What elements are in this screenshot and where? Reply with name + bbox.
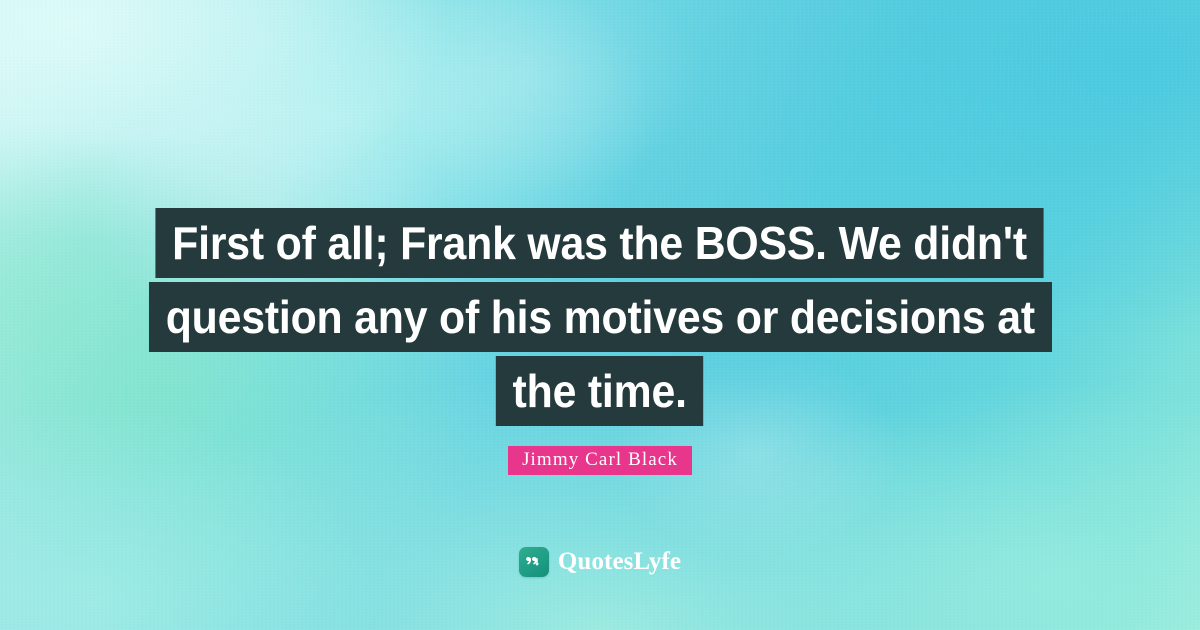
- quote-line-1: First of all; Frank was the BOSS. We did…: [156, 208, 1044, 278]
- quote-line-2: question any of his motives or decisions…: [149, 282, 1052, 352]
- author-name-badge[interactable]: Jimmy Carl Black: [508, 446, 692, 475]
- author-attribution: Jimmy Carl Black: [0, 446, 1200, 475]
- quote-text-block: First of all; Frank was the BOSS. We did…: [0, 208, 1200, 426]
- quote-line-3: the time.: [496, 356, 704, 426]
- brand-wordmark: QuotesLyfe: [558, 548, 681, 576]
- brand-logo[interactable]: QuotesLyfe: [0, 547, 1200, 577]
- quote-poster: First of all; Frank was the BOSS. We did…: [0, 0, 1200, 630]
- poster-content: First of all; Frank was the BOSS. We did…: [0, 0, 1200, 577]
- quote-mark-icon: [519, 547, 549, 577]
